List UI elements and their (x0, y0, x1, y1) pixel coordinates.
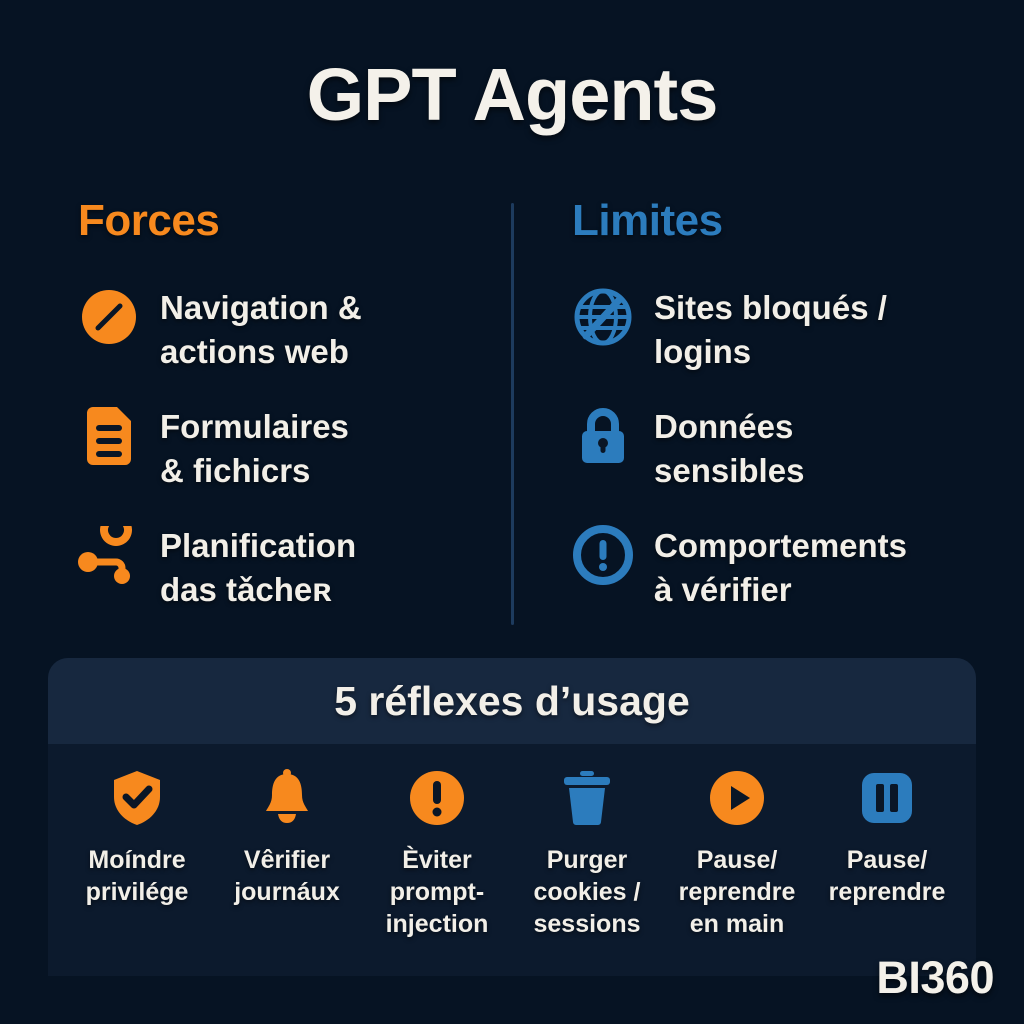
alert-circle-filled-icon (409, 768, 465, 828)
slash-circle-icon (78, 286, 140, 348)
list-item-label: Donnéessensibles (654, 403, 804, 492)
reflex-item[interactable]: Pause/reprendreen main (662, 768, 812, 940)
pause-icon (860, 768, 914, 828)
reflexes-row: Moíndreprivilége Vêrifierjournáux (48, 744, 976, 940)
lock-icon (572, 405, 634, 467)
list-item-label: Formulaires& fichicrs (160, 403, 349, 492)
column-limites: Limites Sites bloqués /logins (572, 196, 1002, 641)
reflexes-panel: 5 réflexes d’usage Moíndreprivilége (48, 658, 976, 976)
alert-circle-icon (572, 524, 634, 586)
reflex-label: Purgercookies /sessions (533, 844, 640, 940)
list-item-label: Navigation &actions web (160, 284, 362, 373)
reflex-item[interactable]: Pause/reprendre (812, 768, 962, 908)
document-lines-icon (78, 405, 140, 467)
column-heading-forces: Forces (78, 196, 508, 246)
list-item: Donnéessensibles (572, 403, 1002, 492)
reflex-label: Moíndreprivilége (86, 844, 189, 908)
reflex-item[interactable]: Purgercookies /sessions (512, 768, 662, 940)
page-title: GPT Agents (0, 52, 1024, 137)
reflex-label: Èviterprompt-injection (386, 844, 489, 940)
column-forces: Forces Navigation &actions web (78, 196, 508, 641)
bell-icon (260, 768, 314, 828)
columns-region: Forces Navigation &actions web (0, 196, 1024, 636)
shield-check-icon (111, 768, 163, 828)
play-circle-icon (709, 768, 765, 828)
reflex-item[interactable]: Èviterprompt-injection (362, 768, 512, 940)
list-item-label: Planificationdas tǎcheʀ (160, 522, 356, 611)
trash-icon (560, 768, 614, 828)
brand-logo: BI360 (876, 952, 994, 1004)
list-item-label: Comportementsà vérifier (654, 522, 907, 611)
reflex-label: Vêrifierjournáux (234, 844, 340, 908)
list-item: Comportementsà vérifier (572, 522, 1002, 611)
list-item: Navigation &actions web (78, 284, 508, 373)
blocked-globe-icon (572, 286, 634, 348)
list-item: Planificationdas tǎcheʀ (78, 522, 508, 611)
workflow-nodes-icon (78, 524, 140, 586)
list-item: Sites bloqués /logins (572, 284, 1002, 373)
list-item-label: Sites bloqués /logins (654, 284, 887, 373)
list-item: Formulaires& fichicrs (78, 403, 508, 492)
column-heading-limites: Limites (572, 196, 1002, 246)
infographic-canvas: GPT Agents Forces Navigation &actions we… (0, 0, 1024, 1024)
reflexes-panel-title: 5 réflexes d’usage (334, 678, 690, 725)
reflex-item[interactable]: Vêrifierjournáux (212, 768, 362, 908)
reflexes-panel-header: 5 réflexes d’usage (48, 658, 976, 744)
reflex-label: Pause/reprendre (829, 844, 946, 908)
reflex-label: Pause/reprendreen main (679, 844, 796, 940)
reflex-item[interactable]: Moíndreprivilége (62, 768, 212, 908)
